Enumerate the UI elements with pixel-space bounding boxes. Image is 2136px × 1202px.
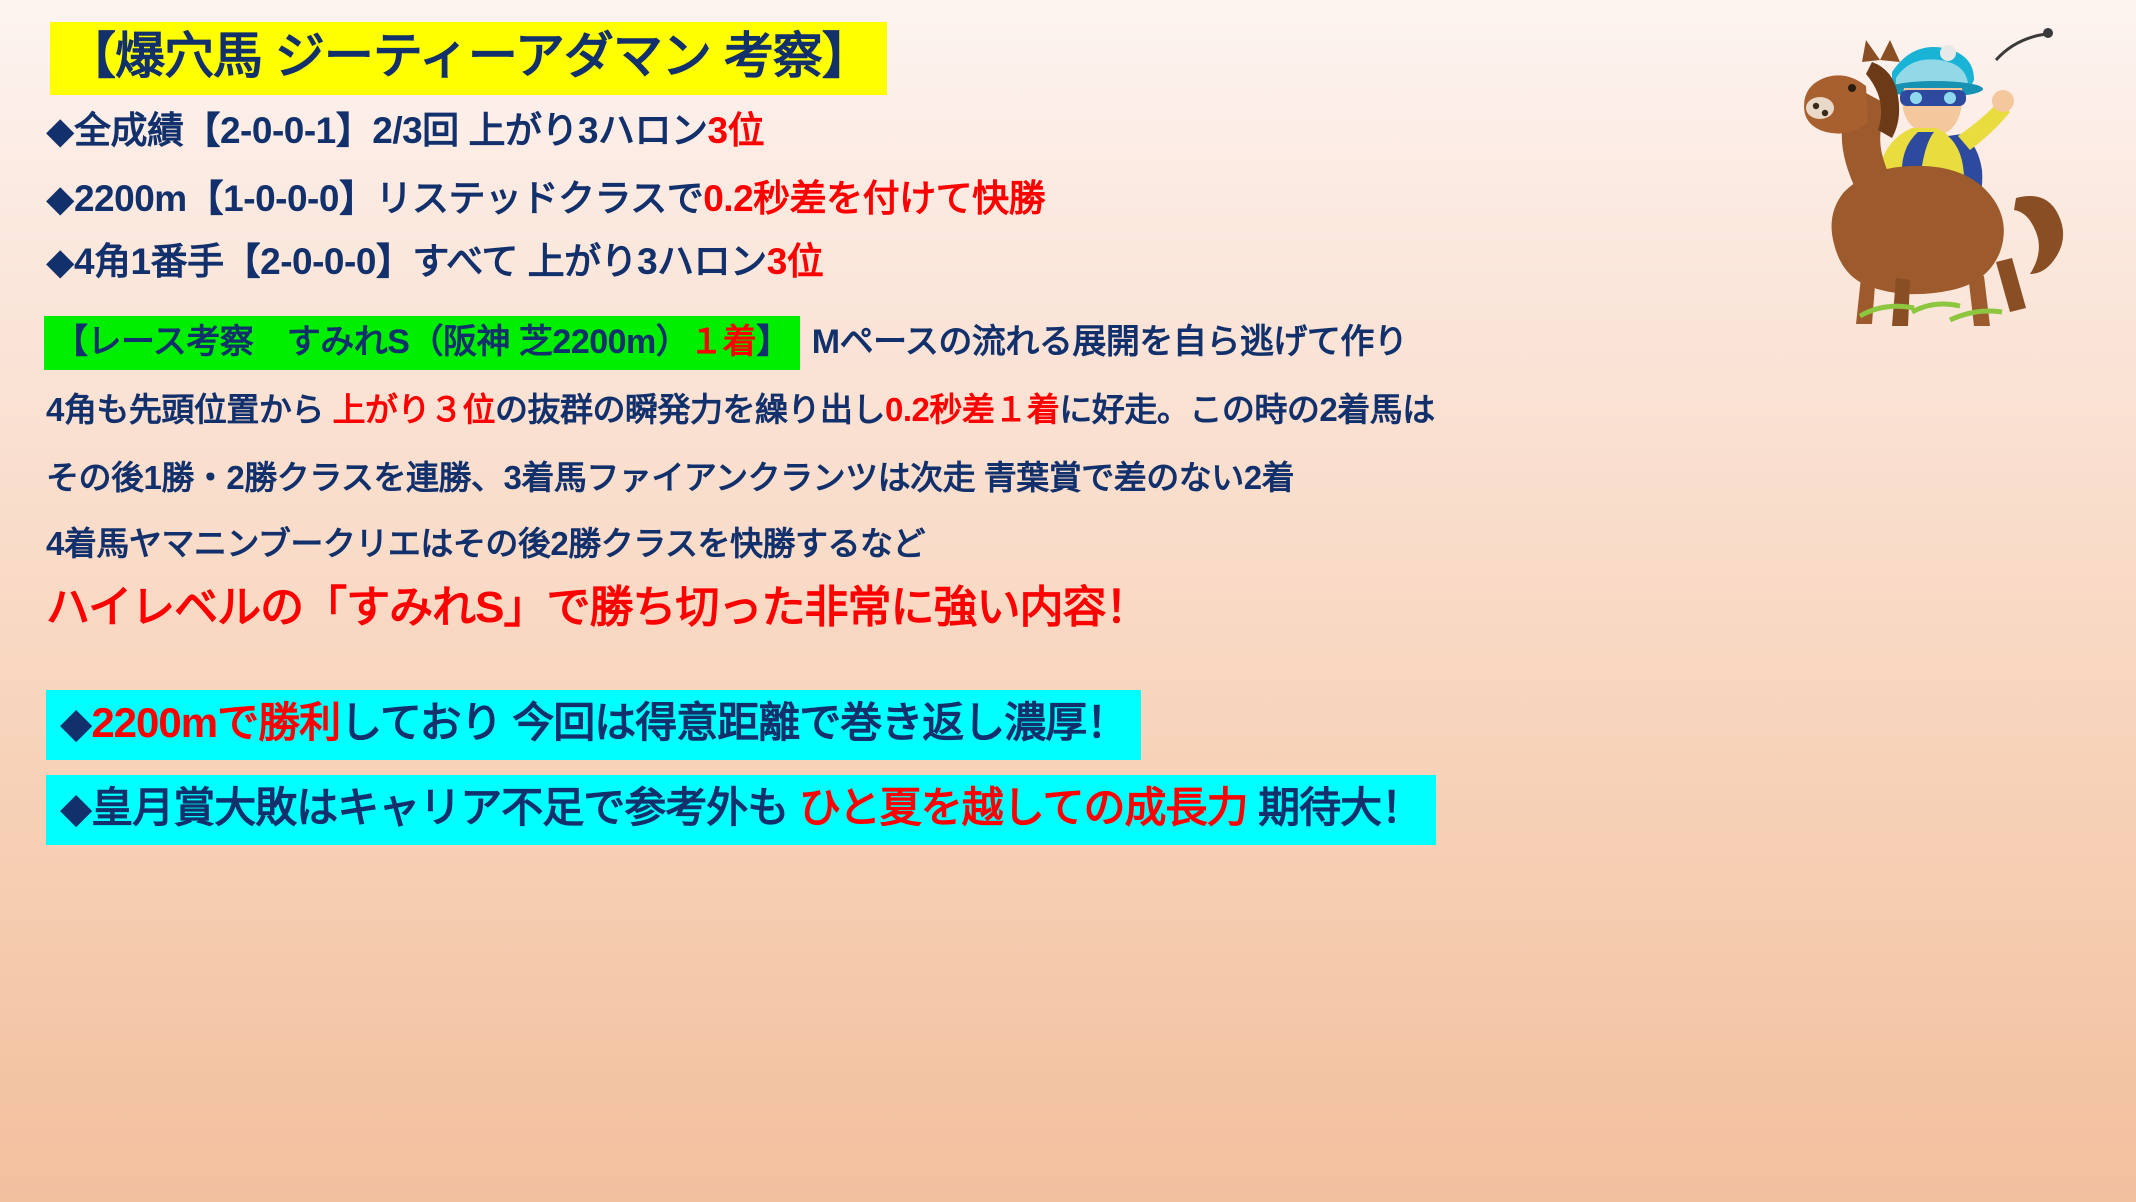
race-analysis-row: 【レース考察 すみれS（阪神 芝2200m）１着】Mペースの流れる展開を自ら逃げ… xyxy=(44,325,1407,359)
para1-seg4: 0.2秒差１着 xyxy=(885,391,1059,428)
summary2-seg1: ◆皇月賞大敗はキャリア不足で参考外も xyxy=(60,784,799,831)
stat-text-corner4: 4角1番手【2-0-0-0】すべて 上がり3ハロン xyxy=(74,241,767,282)
summary1-marker: ◆ xyxy=(60,699,91,746)
stat-text-2200m: 2200m【1-0-0-0】リステッドクラスで xyxy=(74,178,703,219)
summary1-seg4: 勝利 xyxy=(258,699,340,746)
stat-text-overall: 全成績【2-0-0-1】2/3回 上がり3ハロン xyxy=(74,110,708,151)
race-analysis-paragraph-2: その後1勝・2勝クラスを連勝、3着馬ファイアンクランツは次走 青葉賞で差のない2… xyxy=(46,461,1294,494)
para1-seg2: 上がり３位 xyxy=(333,391,496,428)
summary2-seg3: 期待大！ xyxy=(1247,784,1422,831)
summary-box-growth: ◆皇月賞大敗はキャリア不足で参考外も ひと夏を越しての成長力 期待大！ xyxy=(46,775,1436,845)
race-analysis-rank: １着 xyxy=(689,323,756,361)
race-analysis-tail: Mペースの流れる展開を自ら逃げて作り xyxy=(800,323,1408,361)
stat-line-corner4: ◆4角1番手【2-0-0-0】すべて 上がり3ハロン3位 xyxy=(46,243,823,280)
bullet-marker: ◆ xyxy=(46,110,74,151)
summary1-seg5: しており 今回は得意距離で巻き返し濃厚！ xyxy=(340,699,1127,746)
stat-line-overall: ◆全成績【2-0-0-1】2/3回 上がり3ハロン3位 xyxy=(46,112,764,149)
para3-seg1: 4着馬ヤマニンブークリエはその後2勝クラスを快勝するなど xyxy=(46,525,925,562)
horse-and-jockey-illustration xyxy=(1800,16,2080,326)
race-analysis-prefix: 【レース考察 すみれS（阪神 芝2200m） xyxy=(54,323,689,361)
stat-rank-corner4: 3位 xyxy=(767,241,824,282)
race-analysis-paragraph-3: 4着馬ヤマニンブークリエはその後2勝クラスを快勝するなど xyxy=(46,527,925,560)
race-analysis-conclusion: ハイレベルの「すみれS」で勝ち切った非常に強い内容！ xyxy=(46,586,1148,630)
summary-box-distance: ◆2200mで勝利しており 今回は得意距離で巻き返し濃厚！ xyxy=(46,690,1141,760)
para1-seg1: 4角も先頭位置から xyxy=(46,391,333,428)
summary1-seg2: 2200mで xyxy=(91,699,258,746)
slide-canvas: 【爆穴馬 ジーティーアダマン 考察】 xyxy=(0,0,2136,1202)
stat-line-2200m: ◆2200m【1-0-0-0】リステッドクラスで0.2秒差を付けて快勝 xyxy=(46,180,1045,217)
para2-seg1: その後1勝・2勝クラスを連勝、3着馬ファイアンクランツは次走 青葉賞で差のない2… xyxy=(46,459,1294,496)
summary2-seg2: ひと夏を越しての成長力 xyxy=(799,784,1247,831)
race-analysis-suffix: 】 xyxy=(756,323,790,361)
bullet-marker: ◆ xyxy=(46,178,74,219)
race-analysis-paragraph-1: 4角も先頭位置から 上がり３位の抜群の瞬発力を繰り出し0.2秒差１着に好走。この… xyxy=(46,393,1435,426)
para1-seg5: に好走。この時の2着馬は xyxy=(1059,391,1434,428)
race-analysis-highlight: 【レース考察 すみれS（阪神 芝2200m）１着】 xyxy=(44,316,800,370)
bullet-marker: ◆ xyxy=(46,241,74,282)
para1-seg3: の抜群の瞬発力を繰り出し xyxy=(495,391,885,428)
page-title: 【爆穴馬 ジーティーアダマン 考察】 xyxy=(50,22,887,95)
stat-emphasis-2200m: 0.2秒差を付けて快勝 xyxy=(703,178,1045,219)
stat-rank-overall: 3位 xyxy=(708,110,765,151)
